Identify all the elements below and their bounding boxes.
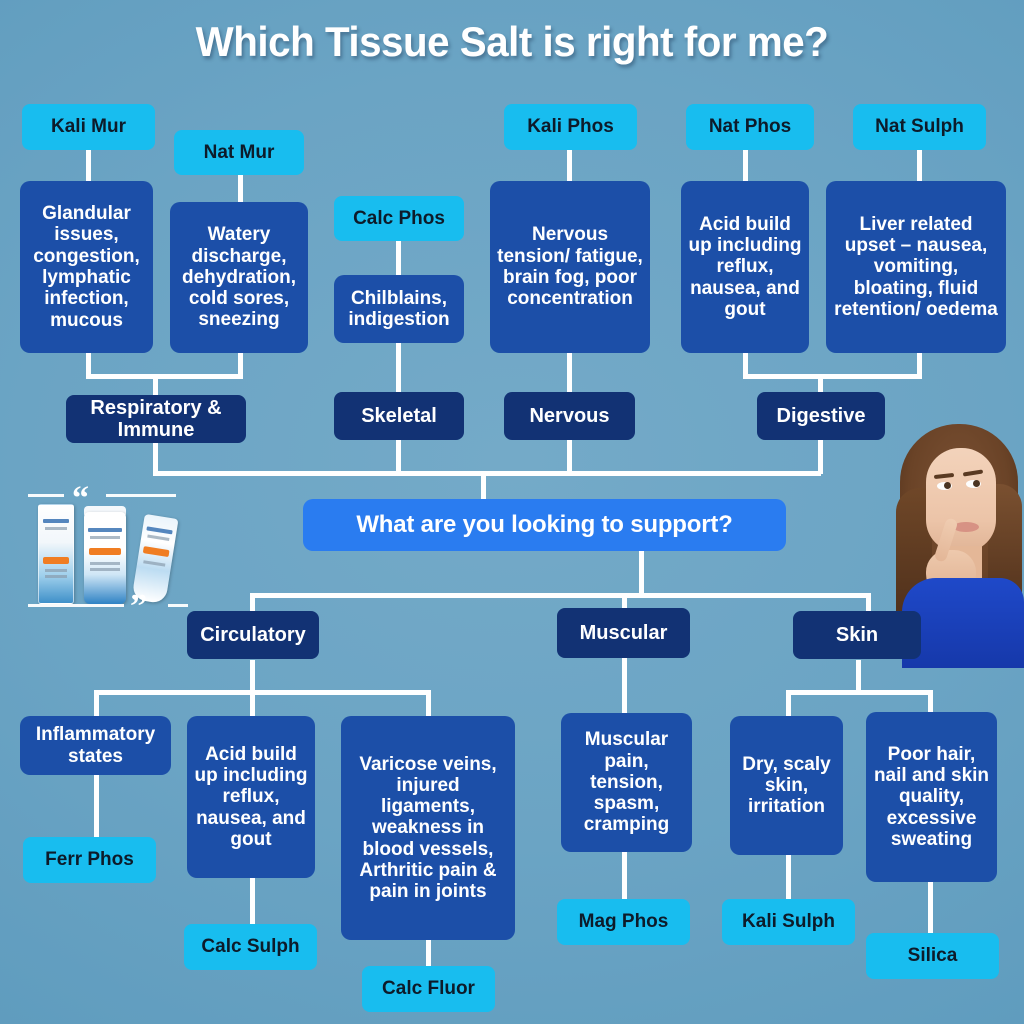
connector-muscular-to-magphos bbox=[622, 850, 627, 902]
salt-box-calc-sulph[interactable]: Calc Sulph bbox=[184, 924, 317, 970]
category-box-skin[interactable]: Skin bbox=[793, 611, 921, 659]
symptom-box-muscular-pain[interactable]: Muscular pain, tension, spasm, cramping bbox=[561, 713, 692, 852]
connector-resp-right-stub bbox=[238, 350, 243, 376]
connector-dig-down bbox=[818, 374, 823, 394]
connector-acid-to-calcsulph bbox=[250, 878, 255, 926]
connector-digestive-to-bus bbox=[818, 438, 823, 474]
connector-muscular-down bbox=[622, 656, 627, 714]
pupil-left bbox=[944, 482, 951, 489]
connector-dig-left-stub bbox=[743, 350, 748, 376]
connector-question-down bbox=[639, 551, 644, 596]
product-tablet-bottle bbox=[84, 512, 126, 604]
connector-natphos bbox=[743, 147, 748, 183]
connector-varicose-to-calcfluor bbox=[426, 940, 431, 968]
connector-bus-to-question bbox=[481, 471, 486, 500]
connector-resp-left-stub bbox=[86, 350, 91, 376]
connector-skeletal-to-bus bbox=[396, 438, 401, 474]
salt-box-nat-mur[interactable]: Nat Mur bbox=[174, 130, 304, 175]
symptom-box-dry-scaly-skin[interactable]: Dry, scaly skin, irritation bbox=[730, 716, 843, 855]
connector-circ-to-inflammatory bbox=[94, 690, 99, 716]
salt-box-calc-fluor[interactable]: Calc Fluor bbox=[362, 966, 495, 1012]
connector-lower-bus bbox=[250, 593, 870, 598]
connector-bus-to-circulatory bbox=[250, 593, 255, 613]
connector-circ-bus bbox=[94, 690, 430, 695]
symptom-box-acid-build-up-circ[interactable]: Acid build up including reflux, nausea, … bbox=[187, 716, 315, 878]
category-box-skeletal[interactable]: Skeletal bbox=[334, 392, 464, 440]
connector-circ-down bbox=[250, 660, 255, 692]
symptom-box-liver-related[interactable]: Liver related upset – nausea, vomiting, … bbox=[826, 181, 1006, 353]
quote-rule-top-left bbox=[28, 494, 64, 497]
symptom-box-watery[interactable]: Watery discharge, dehydration, cold sore… bbox=[170, 202, 308, 353]
connector-bus-to-muscular bbox=[622, 593, 627, 609]
connector-skin-to-dry bbox=[786, 690, 791, 716]
connector-natmur bbox=[238, 172, 243, 204]
quote-rule-bottom-left bbox=[28, 604, 124, 607]
connector-bus-to-skin bbox=[866, 593, 871, 613]
symptom-box-poor-hair-nail[interactable]: Poor hair, nail and skin quality, excess… bbox=[866, 712, 997, 882]
connector-natsulph bbox=[917, 147, 922, 183]
central-question-box[interactable]: What are you looking to support? bbox=[303, 499, 786, 551]
salt-box-kali-sulph[interactable]: Kali Sulph bbox=[722, 899, 855, 945]
connector-kaliphos bbox=[567, 147, 572, 183]
symptom-box-glandular[interactable]: Glandular issues, congestion, lymphatic … bbox=[20, 181, 153, 353]
connector-resp-down bbox=[153, 374, 158, 396]
connector-calcphos bbox=[396, 238, 401, 276]
salt-box-nat-phos[interactable]: Nat Phos bbox=[686, 104, 814, 150]
page-title: Which Tissue Salt is right for me? bbox=[20, 18, 1003, 66]
salt-box-calc-phos[interactable]: Calc Phos bbox=[334, 196, 464, 241]
category-box-circulatory[interactable]: Circulatory bbox=[187, 611, 319, 659]
symptom-box-chilblains[interactable]: Chilblains, indigestion bbox=[334, 275, 464, 343]
symptom-box-inflammatory-states[interactable]: Inflammatory states bbox=[20, 716, 171, 775]
connector-nervous bbox=[567, 350, 572, 394]
connector-dig-right-stub bbox=[917, 350, 922, 376]
symptom-box-acid-build-up[interactable]: Acid build up including reflux, nausea, … bbox=[681, 181, 809, 353]
quote-close-icon: ” bbox=[130, 590, 147, 624]
symptom-box-varicose-veins[interactable]: Varicose veins, injured ligaments, weakn… bbox=[341, 716, 515, 940]
connector-dry-to-kalisulph bbox=[786, 850, 791, 902]
quote-rule-top-right bbox=[106, 494, 176, 497]
connector-skin-bus bbox=[786, 690, 931, 695]
infographic-canvas: Which Tissue Salt is right for me? bbox=[0, 0, 1024, 1024]
connector-resp-to-bus bbox=[153, 441, 158, 474]
product-photo: “ ” bbox=[22, 478, 192, 618]
connector-resp-bus bbox=[86, 374, 243, 379]
category-box-digestive[interactable]: Digestive bbox=[757, 392, 885, 440]
salt-box-kali-phos[interactable]: Kali Phos bbox=[504, 104, 637, 150]
category-box-respiratory-immune[interactable]: Respiratory & Immune bbox=[66, 395, 246, 443]
connector-inflammatory-to-ferrphos bbox=[94, 775, 99, 837]
salt-box-nat-sulph[interactable]: Nat Sulph bbox=[853, 104, 986, 150]
connector-nervous-to-bus bbox=[567, 438, 572, 474]
face-shape bbox=[926, 448, 996, 552]
connector-dig-bus bbox=[743, 374, 922, 379]
connector-upper-bus bbox=[153, 471, 821, 476]
category-box-nervous[interactable]: Nervous bbox=[504, 392, 635, 440]
connector-circ-to-varicose bbox=[426, 690, 431, 716]
salt-box-ferr-phos[interactable]: Ferr Phos bbox=[23, 837, 156, 883]
connector-skeletal bbox=[396, 340, 401, 394]
category-box-muscular[interactable]: Muscular bbox=[557, 608, 690, 658]
connector-circ-to-acid bbox=[250, 690, 255, 716]
quote-rule-bottom-right bbox=[168, 604, 188, 607]
connector-kalimur bbox=[86, 147, 91, 183]
pupil-right bbox=[973, 480, 980, 487]
product-spray-box bbox=[38, 504, 74, 604]
salt-box-silica[interactable]: Silica bbox=[866, 933, 999, 979]
connector-skin-down bbox=[856, 660, 861, 692]
symptom-box-nervous-tension[interactable]: Nervous tension/ fatigue, brain fog, poo… bbox=[490, 181, 650, 353]
salt-box-kali-mur[interactable]: Kali Mur bbox=[22, 104, 155, 150]
salt-box-mag-phos[interactable]: Mag Phos bbox=[557, 899, 690, 945]
connector-poorhair-to-silica bbox=[928, 880, 933, 936]
